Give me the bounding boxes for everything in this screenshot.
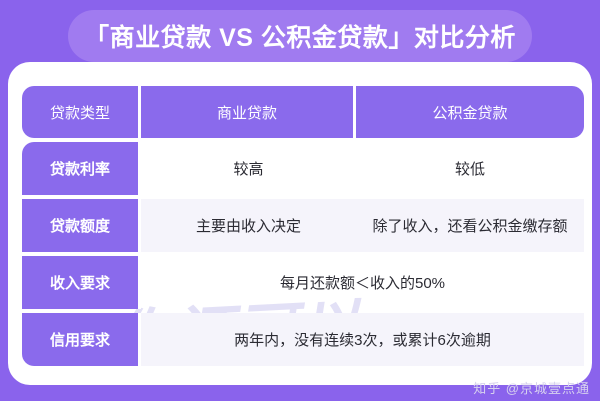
cell-credit-merged: 两年内，没有连续3次，或累计6次逾期 <box>141 313 584 366</box>
row-label-credit: 信用要求 <box>22 313 141 366</box>
cell-income-merged: 每月还款额＜收入的50% <box>141 256 584 309</box>
table-row: 信用要求 两年内，没有连续3次，或累计6次逾期 <box>22 313 584 366</box>
cell-rate-fund: 较低 <box>356 142 584 195</box>
page-title: 「商业贷款 VS 公积金贷款」对比分析 <box>68 10 532 62</box>
row-label-income: 收入要求 <box>22 256 141 309</box>
table-header-row: 贷款类型 商业贷款 公积金贷款 <box>22 86 584 138</box>
header-cell-fund: 公积金贷款 <box>356 86 584 138</box>
row-label-amount: 贷款额度 <box>22 199 141 252</box>
infographic-canvas: 你还可以 贷款类型 商业贷款 公积金贷款 贷款利率 较高 较低 <box>0 0 600 401</box>
cell-rate-commercial: 较高 <box>141 142 356 195</box>
comparison-table: 贷款类型 商业贷款 公积金贷款 贷款利率 较高 较低 贷款 <box>22 86 584 366</box>
table-row: 贷款额度 主要由收入决定 除了收入，还看公积金缴存额 <box>22 199 584 252</box>
row-label-rate: 贷款利率 <box>22 142 141 195</box>
cell-amount-commercial: 主要由收入决定 <box>141 199 356 252</box>
table-row: 贷款利率 较高 较低 <box>22 142 584 195</box>
header-cell-commercial: 商业贷款 <box>141 86 356 138</box>
cell-amount-fund: 除了收入，还看公积金缴存额 <box>356 199 584 252</box>
source-credit: 知乎 @京城壹点通 <box>473 378 590 397</box>
table-row: 收入要求 每月还款额＜收入的50% <box>22 256 584 309</box>
header-cell-type: 贷款类型 <box>22 86 141 138</box>
content-card: 你还可以 贷款类型 商业贷款 公积金贷款 贷款利率 较高 较低 <box>8 62 592 385</box>
